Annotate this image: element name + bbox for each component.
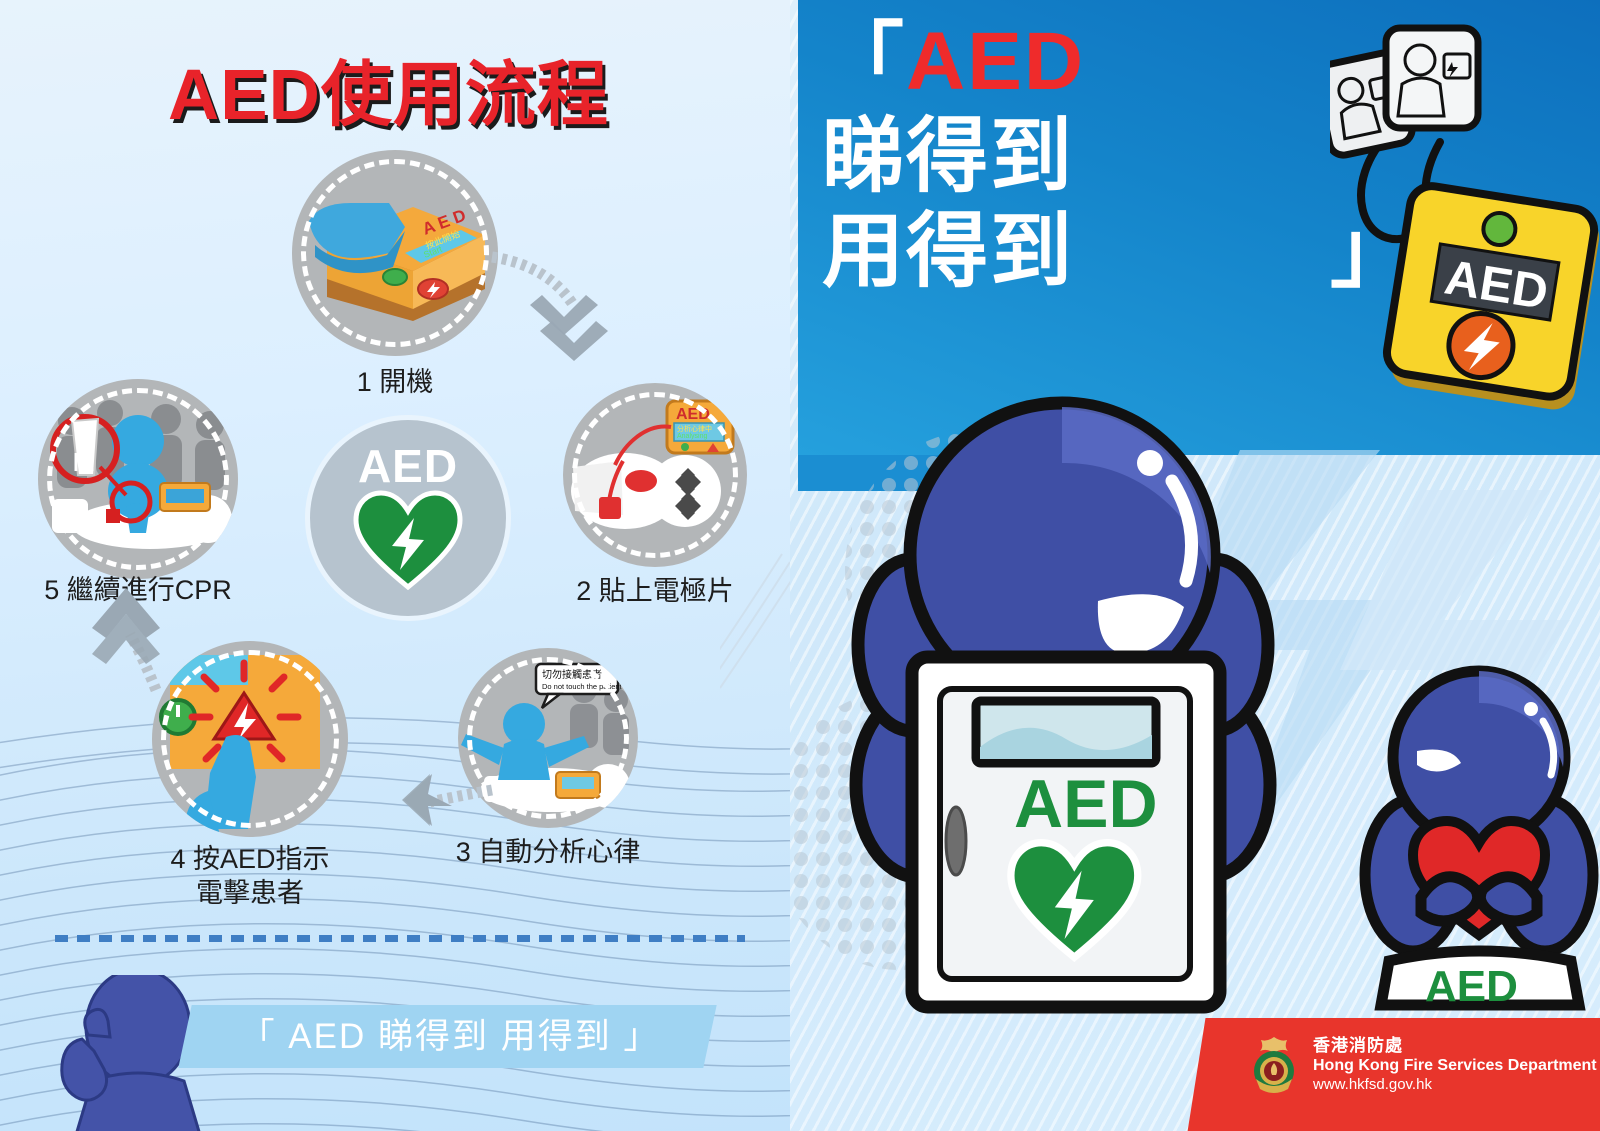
green-heart-bolt-icon (352, 490, 464, 590)
big-mascot: AED (800, 395, 1320, 1035)
svg-text:分析心律中: 分析心律中 (677, 424, 712, 433)
step-5: 5 繼續進行CPR (38, 379, 238, 579)
headline-aed: AED (906, 16, 1085, 107)
headline-line-2: 睇得到 (822, 109, 1322, 204)
arrow-step1-to-step2 (486, 243, 616, 378)
step-1: A E D 按此開始 Start 1 開機 (292, 150, 498, 356)
open-bracket: 「 (822, 16, 906, 107)
small-mascot: AED (1355, 645, 1600, 1015)
svg-text:Do not touch the patient: Do not touch the patient (542, 682, 623, 691)
center-logo-label: AED (358, 446, 458, 487)
bottom-slogan-text: 「 AED 睇得到 用得到 」 (195, 1008, 705, 1066)
electrode-pad-icon (1386, 28, 1478, 128)
org-name-en: Hong Kong Fire Services Department (1313, 1056, 1597, 1076)
headline-line-3: 用得到」 (822, 204, 1322, 299)
poster-root: AED使用流程 AED A E D (0, 0, 1600, 1131)
arrow-step4-to-step5 (86, 580, 196, 705)
footer-content: 香港消防處 Hong Kong Fire Services Department… (1248, 1035, 1597, 1095)
svg-text:A E D: A E D (420, 206, 469, 239)
arrow-step2-to-step3 (720, 540, 790, 695)
org-website[interactable]: www.hkfsd.gov.hk (1313, 1076, 1597, 1094)
mascot-base-aed-label: AED (1425, 962, 1518, 1011)
page-title: AED使用流程 (168, 38, 609, 140)
right-panel: 「AED 睇得到 用得到」 (790, 0, 1600, 1131)
dashed-divider (55, 935, 745, 942)
center-aed-logo: AED (305, 415, 511, 621)
aed-cabinet: AED (912, 657, 1220, 1007)
svg-text:Analysing: Analysing (677, 433, 707, 440)
headline-line-1: 「AED (822, 14, 1322, 109)
hkfsd-crest-icon (1248, 1035, 1300, 1095)
headline-line-3-text: 用得到 (822, 206, 1074, 297)
arrow-step3-to-step4 (388, 760, 498, 855)
svg-text:AED: AED (676, 406, 710, 423)
aed-device-illustration: AED (1330, 22, 1600, 422)
headline: 「AED 睇得到 用得到」 (822, 14, 1322, 299)
svg-text:切勿接觸患者: 切勿接觸患者 (542, 668, 602, 681)
cabinet-aed-label: AED (1014, 766, 1158, 842)
speech-bubble: 切勿接觸患者 Do not touch the patient (536, 664, 623, 708)
svg-text:Start: Start (422, 244, 444, 260)
aed-device-body: AED (1382, 183, 1600, 413)
step-4-label: 4 按AED指示 電擊患者 (85, 843, 415, 911)
cpr-icon (38, 379, 238, 579)
org-name-zh: 香港消防處 (1313, 1036, 1597, 1057)
left-panel: AED使用流程 AED A E D (0, 0, 790, 1131)
aed-power-on-icon: A E D 按此開始 Start (292, 150, 498, 356)
svg-text:按此開始: 按此開始 (424, 228, 462, 251)
footer-text: 香港消防處 Hong Kong Fire Services Department… (1313, 1036, 1597, 1095)
